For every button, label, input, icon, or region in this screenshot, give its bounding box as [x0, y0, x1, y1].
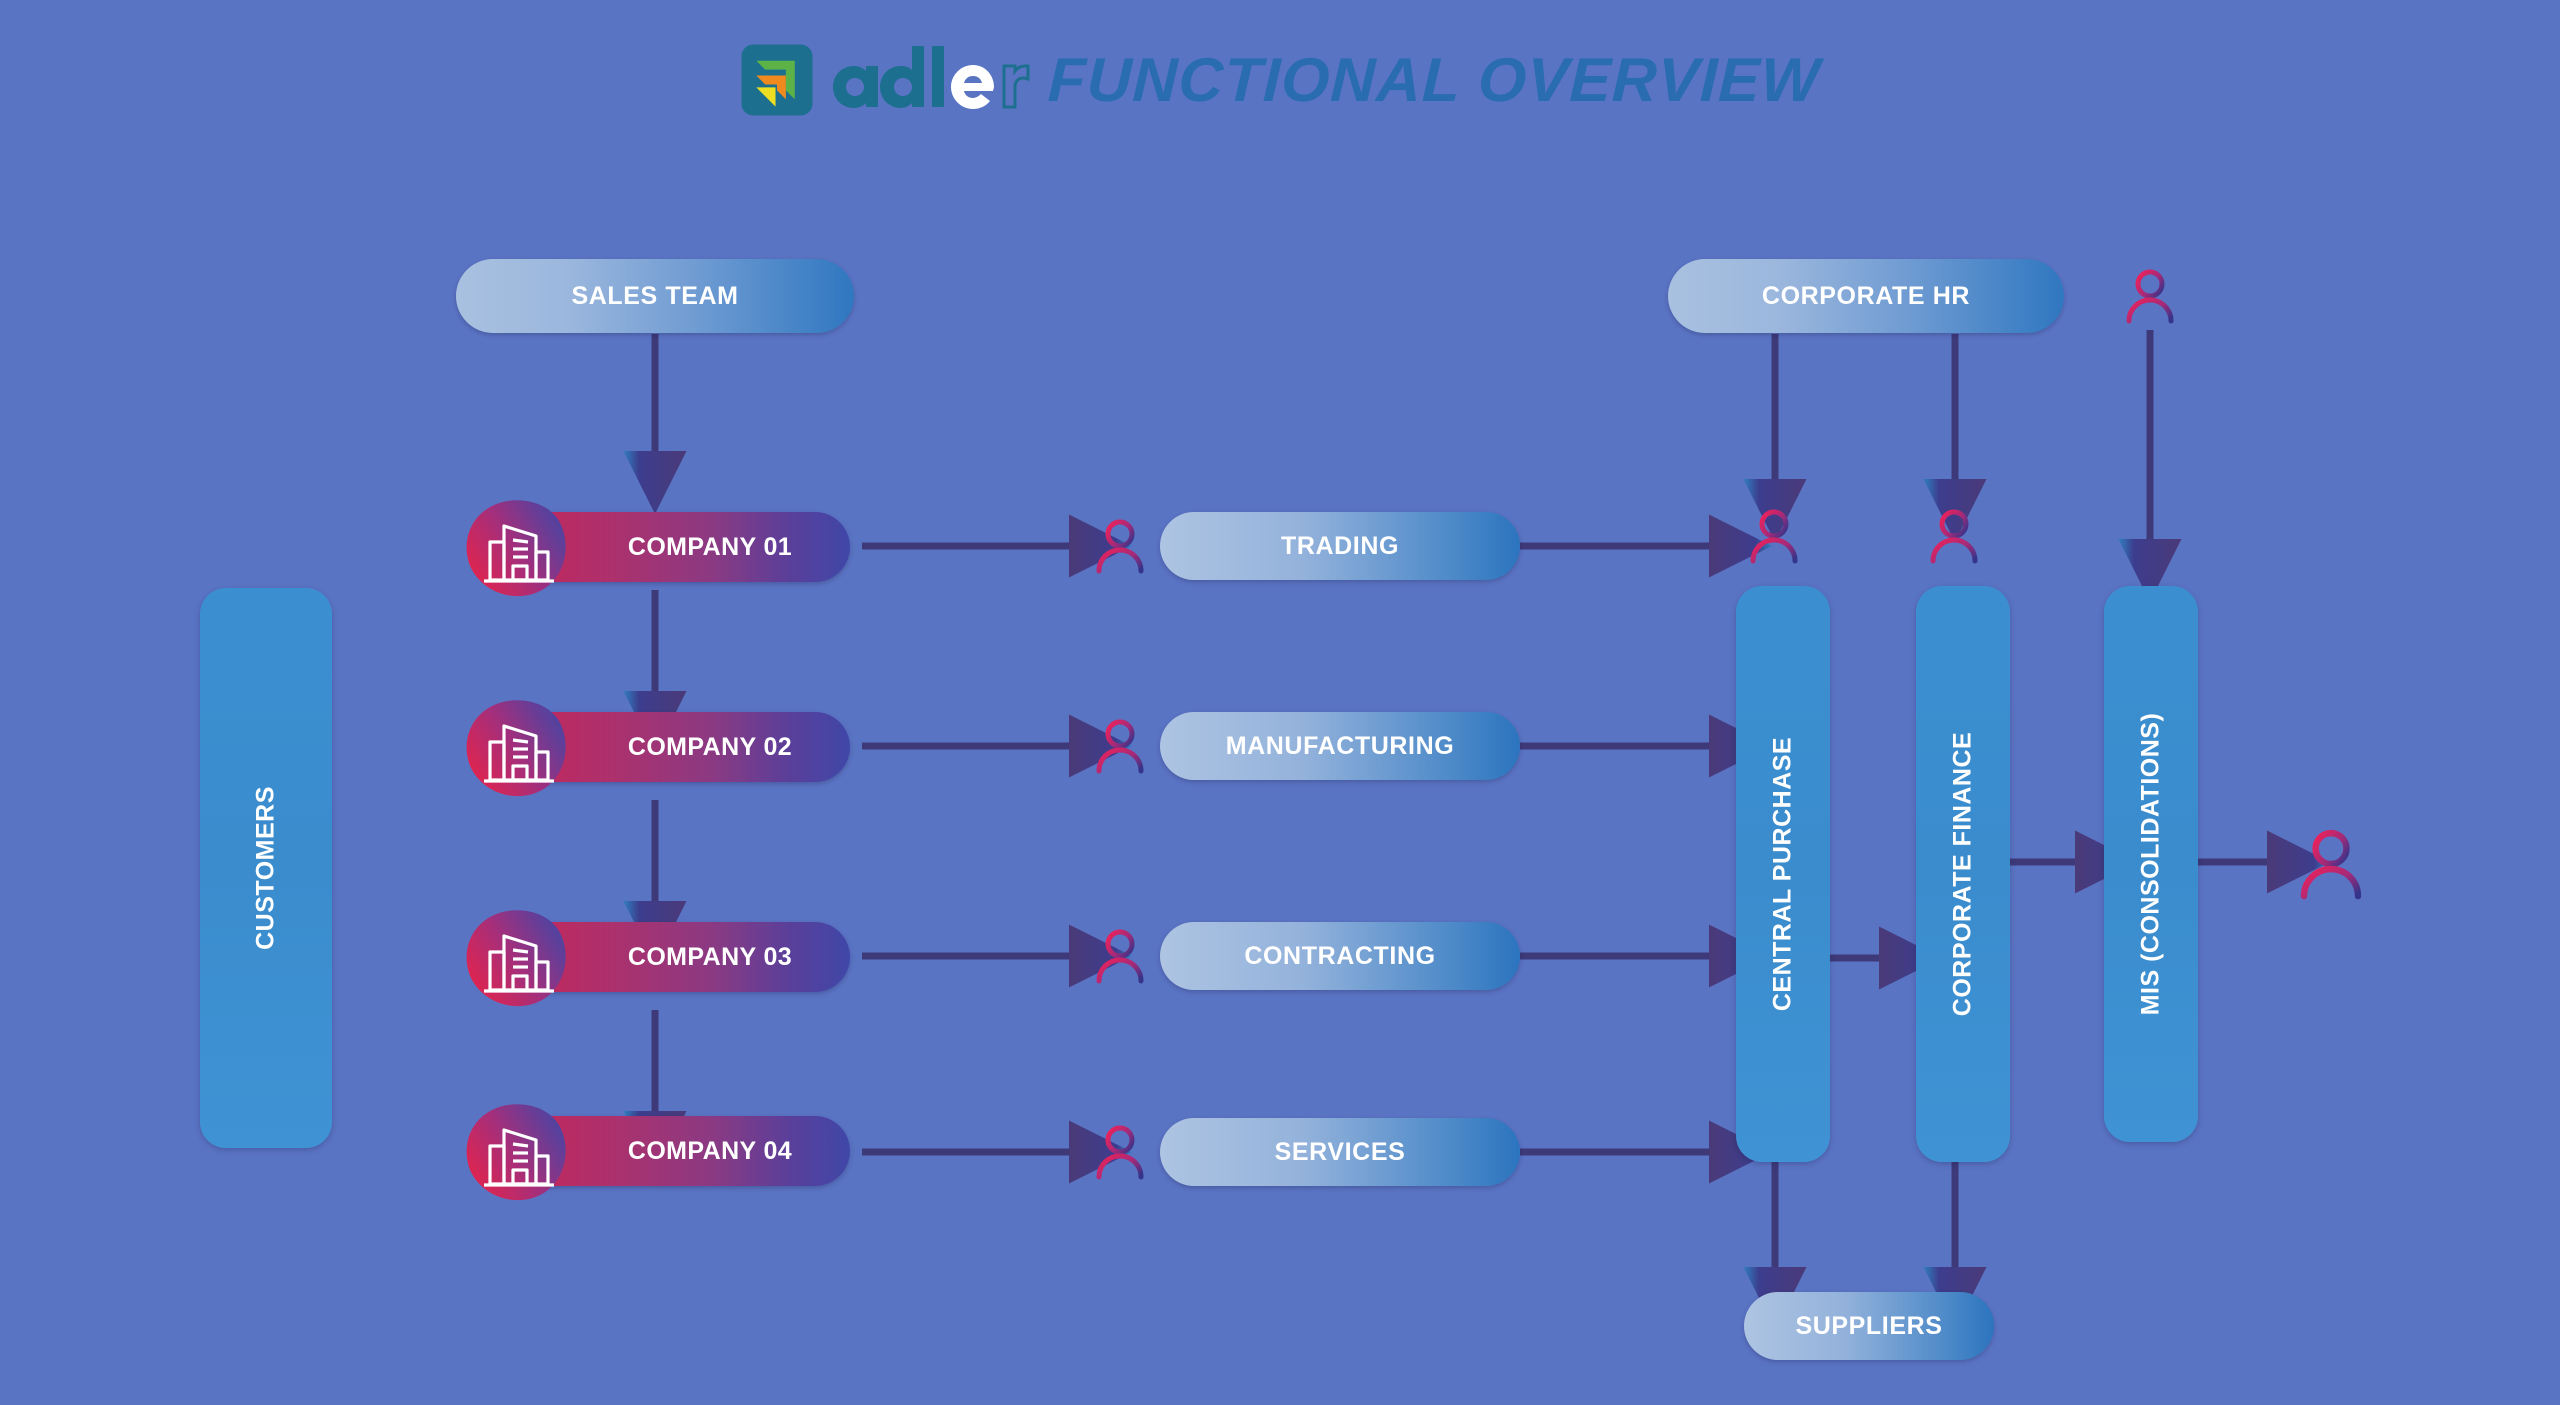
company-pill[interactable]: COMPANY 02	[548, 712, 850, 782]
company-label: COMPANY 01	[628, 533, 792, 562]
person-icon	[2296, 828, 2366, 900]
customers-bar[interactable]: CUSTOMERS	[200, 588, 332, 1148]
company-pill[interactable]: COMPANY 04	[548, 1116, 850, 1186]
corporate-finance-label: CORPORATE FINANCE	[1949, 732, 1978, 1016]
company-pill[interactable]: COMPANY 03	[548, 922, 850, 992]
corporate-hr-label: CORPORATE HR	[1762, 282, 1970, 311]
suppliers-label: SUPPLIERS	[1795, 1312, 1942, 1341]
function-label: CONTRACTING	[1244, 942, 1435, 971]
company-row-1[interactable]: COMPANY 01	[460, 512, 850, 582]
suppliers-pill[interactable]: SUPPLIERS	[1744, 1292, 1994, 1360]
function-label: SERVICES	[1275, 1138, 1406, 1167]
function-label: TRADING	[1281, 532, 1399, 561]
central-purchase-bar[interactable]: CENTRAL PURCHASE	[1736, 586, 1830, 1162]
company-row-3[interactable]: COMPANY 03	[460, 922, 850, 992]
sales-team-label: SALES TEAM	[571, 282, 738, 311]
mis-consolidations-bar[interactable]: MIS (CONSOLIDATIONS)	[2104, 586, 2198, 1142]
person-icon	[1748, 508, 1800, 564]
function-pill-contracting[interactable]: CONTRACTING	[1160, 922, 1520, 990]
company-label: COMPANY 04	[628, 1137, 792, 1166]
person-icon	[1094, 1124, 1146, 1180]
function-pill-manufacturing[interactable]: MANUFACTURING	[1160, 712, 1520, 780]
person-icon	[1094, 928, 1146, 984]
function-pill-services[interactable]: SERVICES	[1160, 1118, 1520, 1186]
central-purchase-label: CENTRAL PURCHASE	[1769, 737, 1798, 1011]
function-label: MANUFACTURING	[1226, 732, 1455, 761]
corporate-hr-pill[interactable]: CORPORATE HR	[1668, 259, 2064, 333]
company-pill[interactable]: COMPANY 01	[548, 512, 850, 582]
person-icon	[1094, 718, 1146, 774]
customers-label: CUSTOMERS	[252, 786, 281, 950]
company-row-4[interactable]: COMPANY 04	[460, 1116, 850, 1186]
diagram-canvas: FUNCTIONAL OVERVIEW	[0, 0, 2560, 1405]
corporate-finance-bar[interactable]: CORPORATE FINANCE	[1916, 586, 2010, 1162]
person-icon	[1928, 508, 1980, 564]
company-label: COMPANY 02	[628, 733, 792, 762]
person-icon	[2124, 268, 2176, 324]
person-icon	[1094, 518, 1146, 574]
company-row-2[interactable]: COMPANY 02	[460, 712, 850, 782]
sales-team-pill[interactable]: SALES TEAM	[456, 259, 854, 333]
company-label: COMPANY 03	[628, 943, 792, 972]
function-pill-trading[interactable]: TRADING	[1160, 512, 1520, 580]
mis-consolidations-label: MIS (CONSOLIDATIONS)	[2137, 713, 2166, 1016]
